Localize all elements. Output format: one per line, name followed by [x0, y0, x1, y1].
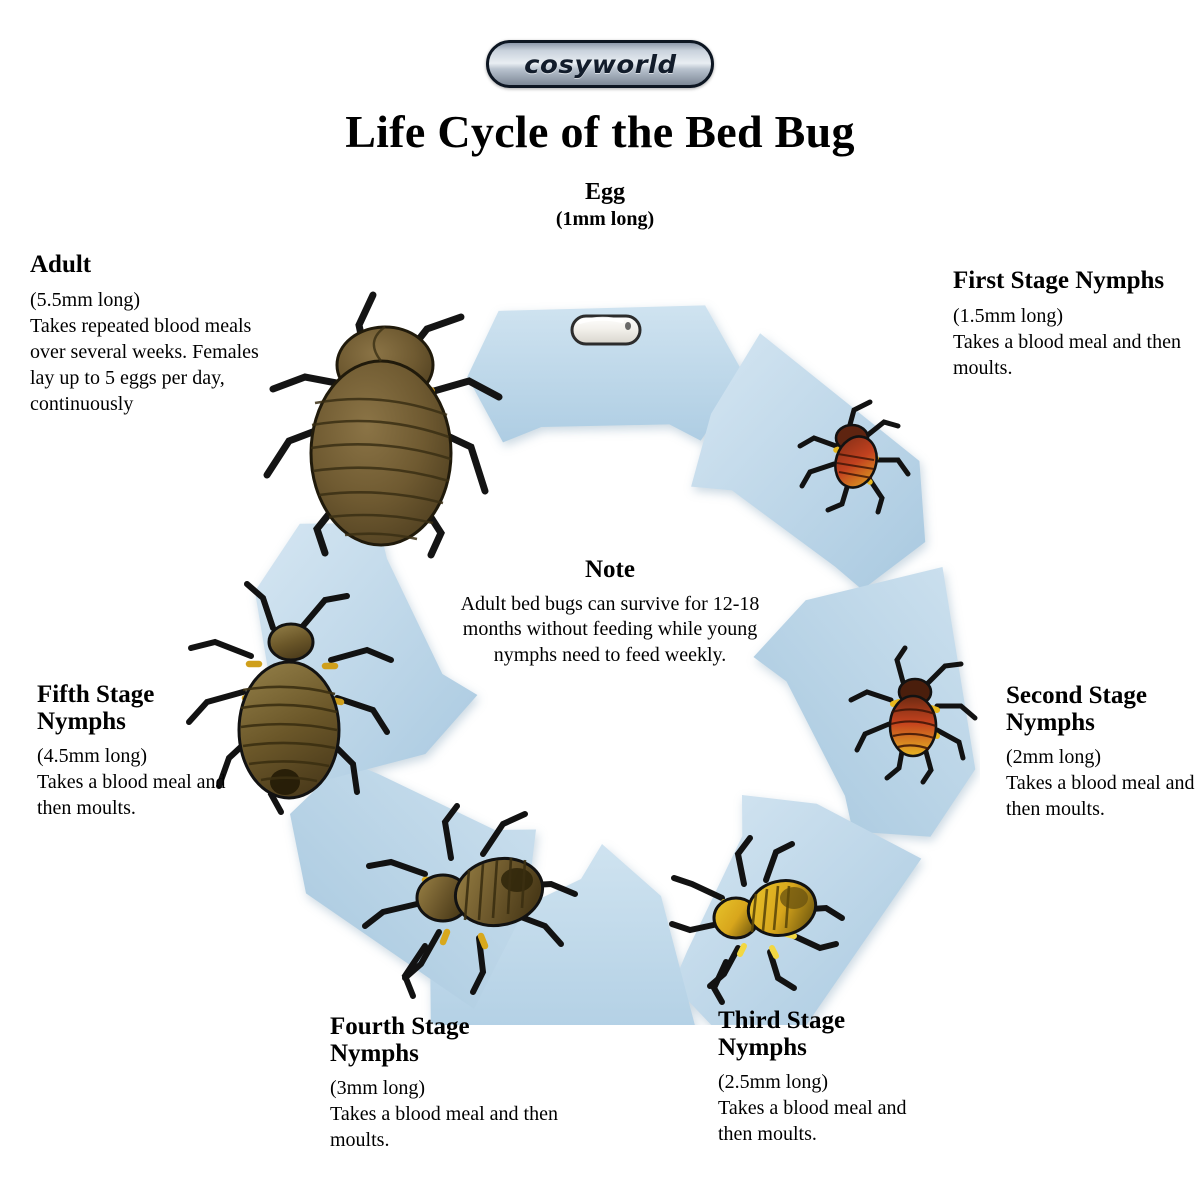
bed-bug-icon: [666, 836, 856, 1004]
egg-size: (1mm long): [400, 207, 810, 231]
stage-block-adult: Adult (5.5mm long) Takes repeated blood …: [30, 252, 265, 417]
egg-illustration: [566, 302, 650, 358]
brand-logo[interactable]: cosyworld: [486, 40, 714, 88]
stage-size-fifth: (4.5mm long): [37, 743, 247, 769]
stage-size-adult: (5.5mm long): [30, 287, 265, 313]
stage-description-fourth: Takes a blood meal and then moults.: [330, 1101, 560, 1153]
stage-description-first: Takes a blood meal and then moults.: [953, 329, 1183, 381]
fourth-stage-nymph-illustration: [355, 800, 585, 1000]
second-stage-nymph-illustration: [845, 648, 981, 784]
stage-block-third: Third Stage Nymphs (2.5mm long) Takes a …: [718, 1008, 938, 1147]
stage-heading-fifth: Fifth Stage Nymphs: [37, 682, 247, 735]
stage-size-second: (2mm long): [1006, 744, 1200, 770]
logo-pill: cosyworld: [486, 40, 714, 88]
bed-bug-icon: [792, 398, 912, 516]
stage-heading-second: Second Stage Nymphs: [1006, 683, 1200, 736]
nymph-head: [269, 624, 313, 660]
page-title: Life Cycle of the Bed Bug: [0, 105, 1200, 158]
first-stage-nymph-illustration: [792, 398, 912, 516]
note-heading: Note: [455, 556, 765, 584]
stage-description-second: Takes a blood meal and then moults.: [1006, 770, 1200, 822]
stage-block-fourth: Fourth Stage Nymphs (3mm long) Takes a b…: [330, 1014, 560, 1153]
note-block: Note Adult bed bugs can survive for 12-1…: [455, 556, 765, 668]
third-stage-nymph-illustration: [666, 836, 856, 1004]
stage-size-first: (1.5mm long): [953, 303, 1183, 329]
stage-heading-fourth: Fourth Stage Nymphs: [330, 1014, 560, 1067]
egg-icon: [566, 302, 650, 358]
stage-size-fourth: (3mm long): [330, 1075, 560, 1101]
logo-text: cosyworld: [524, 50, 677, 79]
bed-bug-icon: [845, 648, 981, 784]
stage-description-fifth: Takes a blood meal and then moults.: [37, 769, 247, 821]
egg-heading: Egg: [400, 178, 810, 207]
infographic-canvas: cosyworld Life Cycle of the Bed Bug Egg …: [0, 0, 1200, 1200]
note-body: Adult bed bugs can survive for 12-18 mon…: [455, 592, 765, 668]
stage-description-adult: Takes repeated blood meals over several …: [30, 313, 265, 417]
adult-bug-illustration: [255, 285, 505, 555]
stage-heading-third: Third Stage Nymphs: [718, 1008, 938, 1061]
stage-block-first: First Stage Nymphs (1.5mm long) Takes a …: [953, 268, 1183, 381]
egg-label: Egg (1mm long): [400, 178, 810, 232]
bed-bug-icon: [355, 800, 585, 1000]
stage-block-fifth: Fifth Stage Nymphs (4.5mm long) Takes a …: [37, 682, 247, 821]
bed-bug-icon: [255, 285, 505, 555]
stage-description-third: Takes a blood meal and then moults.: [718, 1095, 938, 1147]
stage-size-third: (2.5mm long): [718, 1069, 938, 1095]
stage-heading-first: First Stage Nymphs: [953, 268, 1183, 295]
stage-heading-adult: Adult: [30, 252, 265, 279]
stage-block-second: Second Stage Nymphs (2mm long) Takes a b…: [1006, 683, 1200, 822]
